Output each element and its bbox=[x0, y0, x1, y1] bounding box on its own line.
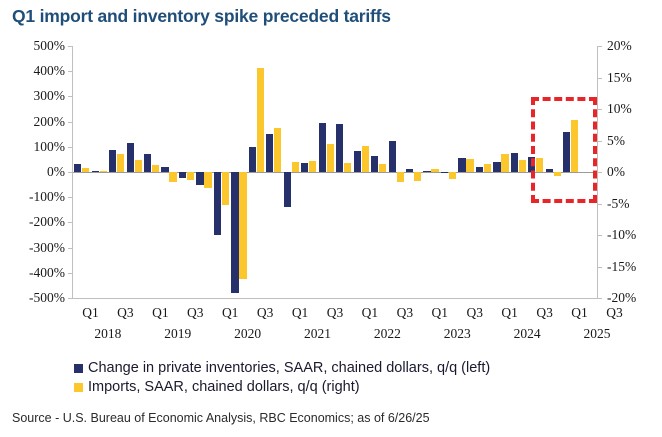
right-axis-tick-label: -5% bbox=[607, 197, 662, 211]
x-axis-year-label: 2021 bbox=[288, 327, 348, 341]
legend-label-inventories: Change in private inventories, SAAR, cha… bbox=[88, 360, 490, 376]
bar-imports bbox=[100, 171, 107, 172]
bar-imports bbox=[239, 172, 246, 279]
bar-imports bbox=[274, 128, 281, 172]
zero-baseline bbox=[73, 172, 597, 173]
x-axis-year-label: 2019 bbox=[148, 327, 208, 341]
bar-inventories bbox=[231, 172, 238, 293]
right-axis-tick-label: 10% bbox=[607, 102, 662, 116]
right-axis-tick bbox=[597, 172, 602, 173]
left-axis-tick bbox=[68, 147, 73, 148]
bar-imports bbox=[344, 163, 351, 172]
source-note: Source - U.S. Bureau of Economic Analysi… bbox=[12, 411, 430, 425]
bar-inventories bbox=[109, 150, 116, 172]
x-axis-year-label: 2023 bbox=[427, 327, 487, 341]
right-axis-tick bbox=[597, 141, 602, 142]
right-axis-tick bbox=[597, 298, 602, 299]
right-axis-tick bbox=[597, 235, 602, 236]
bar-inventories bbox=[406, 169, 413, 172]
x-axis-year-label: 2025 bbox=[567, 327, 627, 341]
bar-inventories bbox=[144, 154, 151, 172]
bar-imports bbox=[82, 168, 89, 172]
bar-inventories bbox=[441, 172, 448, 173]
bar-imports bbox=[449, 172, 456, 179]
right-axis-tick bbox=[597, 267, 602, 268]
bar-imports bbox=[152, 165, 159, 172]
legend-item-inventories: Change in private inventories, SAAR, cha… bbox=[74, 360, 490, 376]
bar-imports bbox=[204, 172, 211, 188]
left-axis-tick-label: -300% bbox=[5, 241, 65, 255]
bar-imports bbox=[519, 160, 526, 172]
bar-imports bbox=[414, 172, 421, 181]
bar-imports bbox=[257, 68, 264, 172]
legend-item-imports: Imports, SAAR, chained dollars, q/q (rig… bbox=[74, 379, 490, 395]
right-axis-tick-label: 5% bbox=[607, 134, 662, 148]
bar-inventories bbox=[196, 172, 203, 185]
bar-inventories bbox=[423, 171, 430, 172]
left-axis-tick-label: 400% bbox=[5, 64, 65, 78]
x-axis-year-label: 2020 bbox=[218, 327, 278, 341]
bar-inventories bbox=[301, 163, 308, 172]
left-axis-tick bbox=[68, 122, 73, 123]
bar-inventories bbox=[214, 172, 221, 235]
right-axis-tick-label: 20% bbox=[607, 39, 662, 53]
bar-inventories bbox=[74, 164, 81, 172]
left-axis-tick-label: -100% bbox=[5, 190, 65, 204]
right-axis-tick-label: 0% bbox=[607, 165, 662, 179]
bar-inventories bbox=[249, 147, 256, 172]
legend-label-imports: Imports, SAAR, chained dollars, q/q (rig… bbox=[88, 379, 360, 395]
bar-imports bbox=[135, 160, 142, 172]
right-axis-tick-label: -10% bbox=[607, 228, 662, 242]
x-axis-year-label: 2018 bbox=[78, 327, 138, 341]
left-axis-tick-label: -400% bbox=[5, 266, 65, 280]
bar-imports bbox=[466, 159, 473, 172]
right-axis-tick bbox=[597, 46, 602, 47]
bar-inventories bbox=[476, 167, 483, 172]
bar-imports bbox=[362, 146, 369, 172]
left-axis-tick bbox=[68, 248, 73, 249]
bar-imports bbox=[292, 162, 299, 172]
bottom-axis-line bbox=[72, 298, 598, 299]
left-axis-tick bbox=[68, 172, 73, 173]
bar-imports bbox=[327, 144, 334, 172]
highlight-box-annotation bbox=[531, 97, 597, 203]
left-axis-tick bbox=[68, 222, 73, 223]
left-axis-tick bbox=[68, 71, 73, 72]
bar-imports bbox=[379, 164, 386, 172]
bar-inventories bbox=[458, 158, 465, 172]
left-axis-tick-label: -200% bbox=[5, 215, 65, 229]
bar-inventories bbox=[92, 171, 99, 172]
bar-imports bbox=[431, 169, 438, 172]
left-axis-tick-label: 0% bbox=[5, 165, 65, 179]
bar-inventories bbox=[511, 153, 518, 172]
bar-imports bbox=[501, 154, 508, 172]
left-axis-tick bbox=[68, 46, 73, 47]
bar-imports bbox=[117, 154, 124, 172]
bar-imports bbox=[187, 172, 194, 180]
chart-legend: Change in private inventories, SAAR, cha… bbox=[74, 360, 490, 398]
left-axis-tick bbox=[68, 197, 73, 198]
right-axis-tick-label: -15% bbox=[607, 260, 662, 274]
bar-inventories bbox=[371, 156, 378, 172]
right-axis-tick bbox=[597, 109, 602, 110]
left-axis-tick-label: 100% bbox=[5, 140, 65, 154]
legend-swatch-imports bbox=[74, 383, 83, 392]
left-axis-tick-label: 500% bbox=[5, 39, 65, 53]
bar-imports bbox=[309, 161, 316, 172]
right-axis-tick bbox=[597, 78, 602, 79]
bar-inventories bbox=[127, 143, 134, 172]
x-axis-year-label: 2022 bbox=[357, 327, 417, 341]
right-axis-tick-label: 15% bbox=[607, 71, 662, 85]
bar-inventories bbox=[354, 151, 361, 172]
bar-imports bbox=[397, 172, 404, 182]
legend-swatch-inventories bbox=[74, 364, 83, 373]
right-axis-tick bbox=[597, 204, 602, 205]
bar-inventories bbox=[266, 134, 273, 172]
left-axis-tick bbox=[68, 273, 73, 274]
bar-inventories bbox=[389, 141, 396, 173]
bar-imports bbox=[484, 164, 491, 172]
bar-inventories bbox=[493, 162, 500, 172]
right-axis-tick-label: -20% bbox=[607, 291, 662, 305]
left-axis-tick bbox=[68, 298, 73, 299]
left-axis-tick bbox=[68, 96, 73, 97]
bar-inventories bbox=[284, 172, 291, 207]
x-axis-year-label: 2024 bbox=[497, 327, 557, 341]
bar-inventories bbox=[336, 124, 343, 172]
left-axis-tick-label: 300% bbox=[5, 89, 65, 103]
bar-imports bbox=[169, 172, 176, 182]
bar-inventories bbox=[161, 167, 168, 172]
bar-inventories bbox=[179, 172, 186, 178]
bar-inventories bbox=[319, 123, 326, 172]
x-axis-quarter-label: Q3 bbox=[594, 306, 634, 320]
bar-imports bbox=[222, 172, 229, 205]
left-axis-tick-label: 200% bbox=[5, 115, 65, 129]
left-axis-tick-label: -500% bbox=[5, 291, 65, 305]
